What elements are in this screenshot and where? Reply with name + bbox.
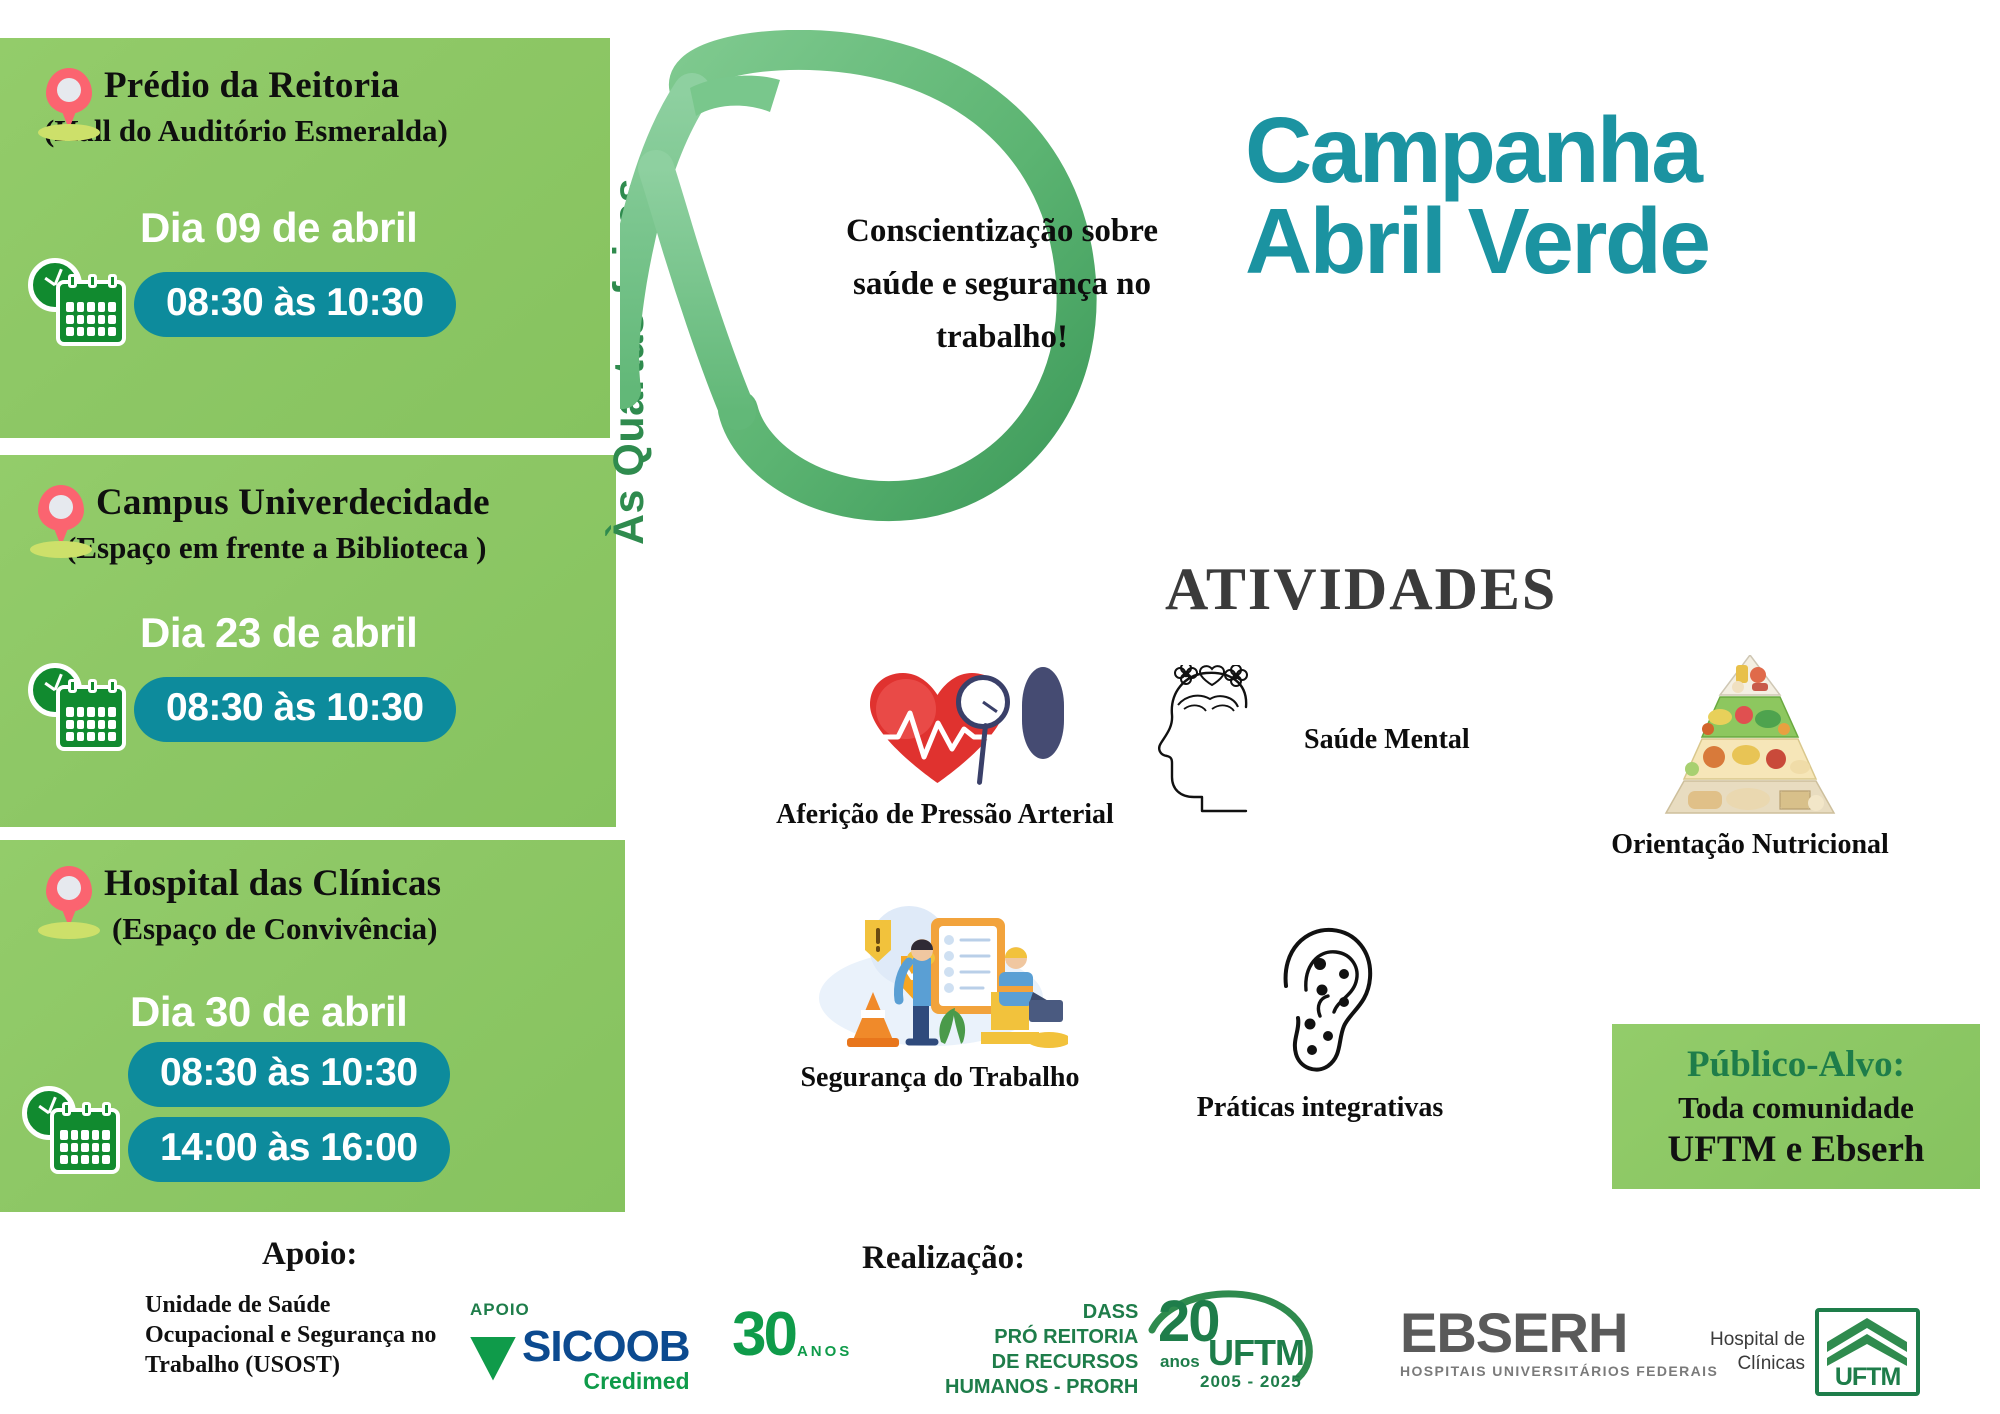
event-date: Dia 30 de abril	[130, 988, 625, 1036]
event-date: Dia 09 de abril	[140, 204, 610, 252]
location-name: Prédio da Reitoria	[104, 66, 448, 107]
activity-item: Práticas integrativas	[1160, 920, 1480, 1124]
map-pin-icon	[38, 66, 100, 144]
ebserh-name: EBSERH	[1400, 1305, 1718, 1361]
apoio-text: Unidade de Saúde Ocupacional e Segurança…	[145, 1290, 455, 1380]
activity-label: Saúde Mental	[1304, 724, 1470, 756]
dass-line-2: PRÓ REITORIA	[945, 1325, 1138, 1350]
thirty-number: 30	[732, 1304, 795, 1366]
dass-line-1: DASS	[945, 1300, 1138, 1325]
audience-heading: Público-Alvo:	[1687, 1043, 1905, 1086]
calendar-clock-icon	[20, 1084, 128, 1180]
activity-item: Aferição de Pressão Arterial	[760, 655, 1130, 831]
dass-prorh-logo: DASS PRÓ REITORIA DE RECURSOS HUMANOS - …	[945, 1300, 1138, 1400]
sicoob-name: SICOOB	[522, 1322, 690, 1372]
realizacao-heading: Realização:	[862, 1240, 1025, 1277]
map-pin-icon	[30, 483, 92, 561]
awareness-text: Conscientização sobre saúde e segurança …	[832, 205, 1172, 363]
calendar-clock-icon	[26, 661, 134, 757]
thirty-years-logo: 30 ANOS	[732, 1304, 852, 1366]
heart-blood-pressure-icon	[870, 657, 1020, 785]
sicoob-triangle-icon	[470, 1337, 516, 1381]
location-name: Campus Univerdecidade	[96, 483, 490, 524]
workplace-safety-icon	[813, 900, 1068, 1050]
hc-logo-text: UFTM	[1815, 1363, 1920, 1392]
time-pill: 14:00 às 16:00	[128, 1117, 450, 1182]
activity-item: Orientação Nutricional	[1580, 655, 1920, 861]
location-name: Hospital das Clínicas	[104, 864, 441, 905]
apoio-heading: Apoio:	[262, 1236, 357, 1273]
activity-label: Segurança do Trabalho	[760, 1062, 1120, 1094]
food-pyramid-icon	[1658, 655, 1843, 815]
dass-line-3: DE RECURSOS	[945, 1350, 1138, 1375]
activity-item: Saúde Mental	[1150, 665, 1480, 815]
sicoob-sub: Credimed	[522, 1368, 690, 1395]
activity-label: Orientação Nutricional	[1580, 829, 1920, 861]
location-card-2: Campus Univerdecidade (Espaço em frente …	[0, 455, 616, 827]
audience-line-1: Toda comunidade	[1678, 1090, 1914, 1126]
dass-line-4: HUMANOS - PRORH	[945, 1375, 1138, 1400]
location-detail: (Hall do Auditório Esmeralda)	[44, 113, 448, 149]
hc-line-1: Hospital de	[1710, 1328, 1805, 1352]
hospital-clinicas-logo: Hospital de Clínicas UFTM	[1710, 1308, 1920, 1396]
ebserh-logo: EBSERH HOSPITAIS UNIVERSITÁRIOS FEDERAIS	[1400, 1305, 1718, 1379]
activity-label: Aferição de Pressão Arterial	[760, 799, 1130, 831]
poster-root: Prédio da Reitoria (Hall do Auditório Es…	[0, 0, 2000, 1414]
calendar-clock-icon	[26, 256, 134, 352]
location-card-1: Prédio da Reitoria (Hall do Auditório Es…	[0, 38, 610, 438]
ear-acupuncture-icon	[1260, 920, 1380, 1080]
time-pill: 08:30 às 10:30	[134, 677, 456, 742]
location-detail: (Espaço em frente a Biblioteca )	[66, 530, 490, 566]
activity-item: Segurança do Trabalho	[760, 900, 1120, 1094]
uftm-20-years-logo: 20 anos UFTM 2005 - 2025	[1140, 1290, 1330, 1395]
event-date: Dia 23 de abril	[140, 609, 616, 657]
uftm20-name: UFTM	[1208, 1332, 1304, 1374]
location-card-3: Hospital das Clínicas (Espaço de Convivê…	[0, 840, 625, 1212]
time-pill: 08:30 às 10:30	[128, 1042, 450, 1107]
hc-line-2: Clínicas	[1710, 1352, 1805, 1376]
map-pin-icon	[38, 864, 100, 942]
audience-box: Público-Alvo: Toda comunidade UFTM e Ebs…	[1612, 1024, 1980, 1189]
activity-label: Práticas integrativas	[1160, 1092, 1480, 1124]
sicoob-apoio-label: APOIO	[470, 1300, 690, 1320]
uftm20-years: 2005 - 2025	[1200, 1372, 1302, 1392]
ebserh-sub: HOSPITAIS UNIVERSITÁRIOS FEDERAIS	[1400, 1363, 1718, 1379]
head-brain-flowers-icon	[1150, 665, 1290, 815]
page-title: Campanha Abril Verde	[1245, 105, 1709, 287]
time-pill: 08:30 às 10:30	[134, 272, 456, 337]
location-detail: (Espaço de Convivência)	[112, 911, 441, 947]
sicoob-logo: APOIO SICOOB Credimed	[470, 1300, 690, 1395]
uftm-shield-icon: UFTM	[1815, 1308, 1920, 1396]
title-line-2: Abril Verde	[1245, 196, 1709, 287]
audience-line-2: UFTM e Ebserh	[1668, 1128, 1925, 1171]
thirty-anos-label: ANOS	[797, 1343, 852, 1360]
title-line-1: Campanha	[1245, 105, 1709, 196]
activities-heading: ATIVIDADES	[1165, 555, 1557, 624]
uftm20-anos: anos	[1160, 1352, 1200, 1372]
